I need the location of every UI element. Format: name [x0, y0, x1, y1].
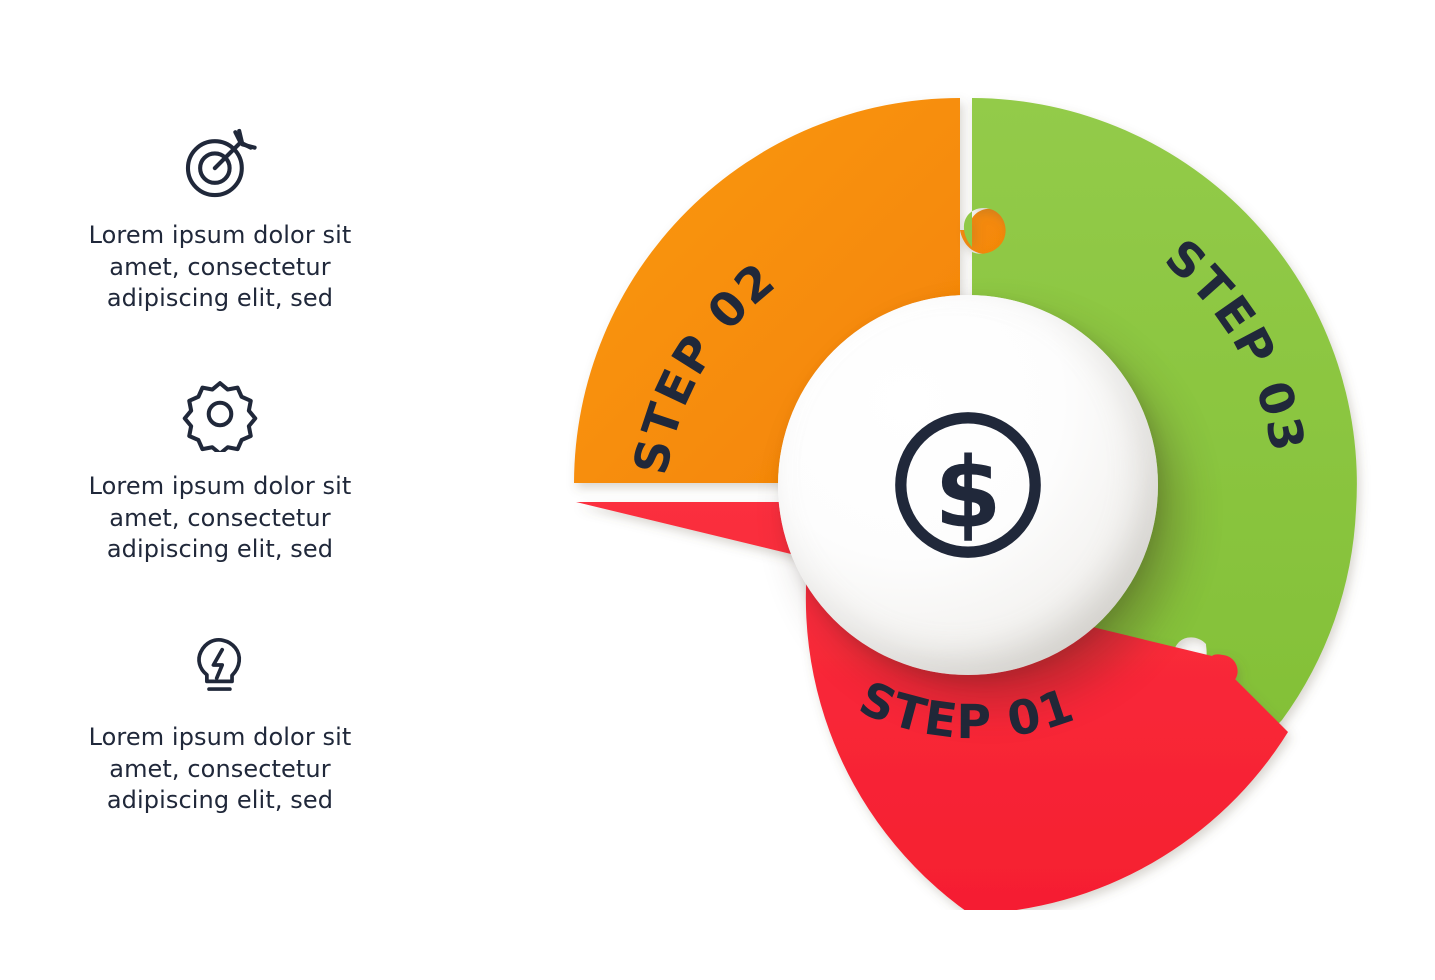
infographic-canvas: Lorem ipsum dolor sit amet, consectetur …: [0, 0, 1435, 980]
list-item[interactable]: Lorem ipsum dolor sit amet, consectetur …: [60, 371, 380, 566]
list-item[interactable]: Lorem ipsum dolor sit amet, consectetur …: [60, 622, 380, 817]
legend-column: Lorem ipsum dolor sit amet, consectetur …: [60, 120, 380, 873]
list-item-text: Lorem ipsum dolor sit amet, consectetur …: [60, 471, 380, 566]
center-sphere[interactable]: $: [778, 295, 1158, 675]
list-item-text: Lorem ipsum dolor sit amet, consectetur …: [60, 722, 380, 817]
gear-icon: [60, 371, 380, 457]
dollar-circle-icon: $: [882, 399, 1054, 576]
list-item-text: Lorem ipsum dolor sit amet, consectetur …: [60, 220, 380, 315]
target-arrow-icon: [60, 120, 380, 206]
lightbulb-bolt-icon: [60, 622, 380, 708]
dollar-glyph: $: [934, 436, 1001, 549]
list-item[interactable]: Lorem ipsum dolor sit amet, consectetur …: [60, 120, 380, 315]
